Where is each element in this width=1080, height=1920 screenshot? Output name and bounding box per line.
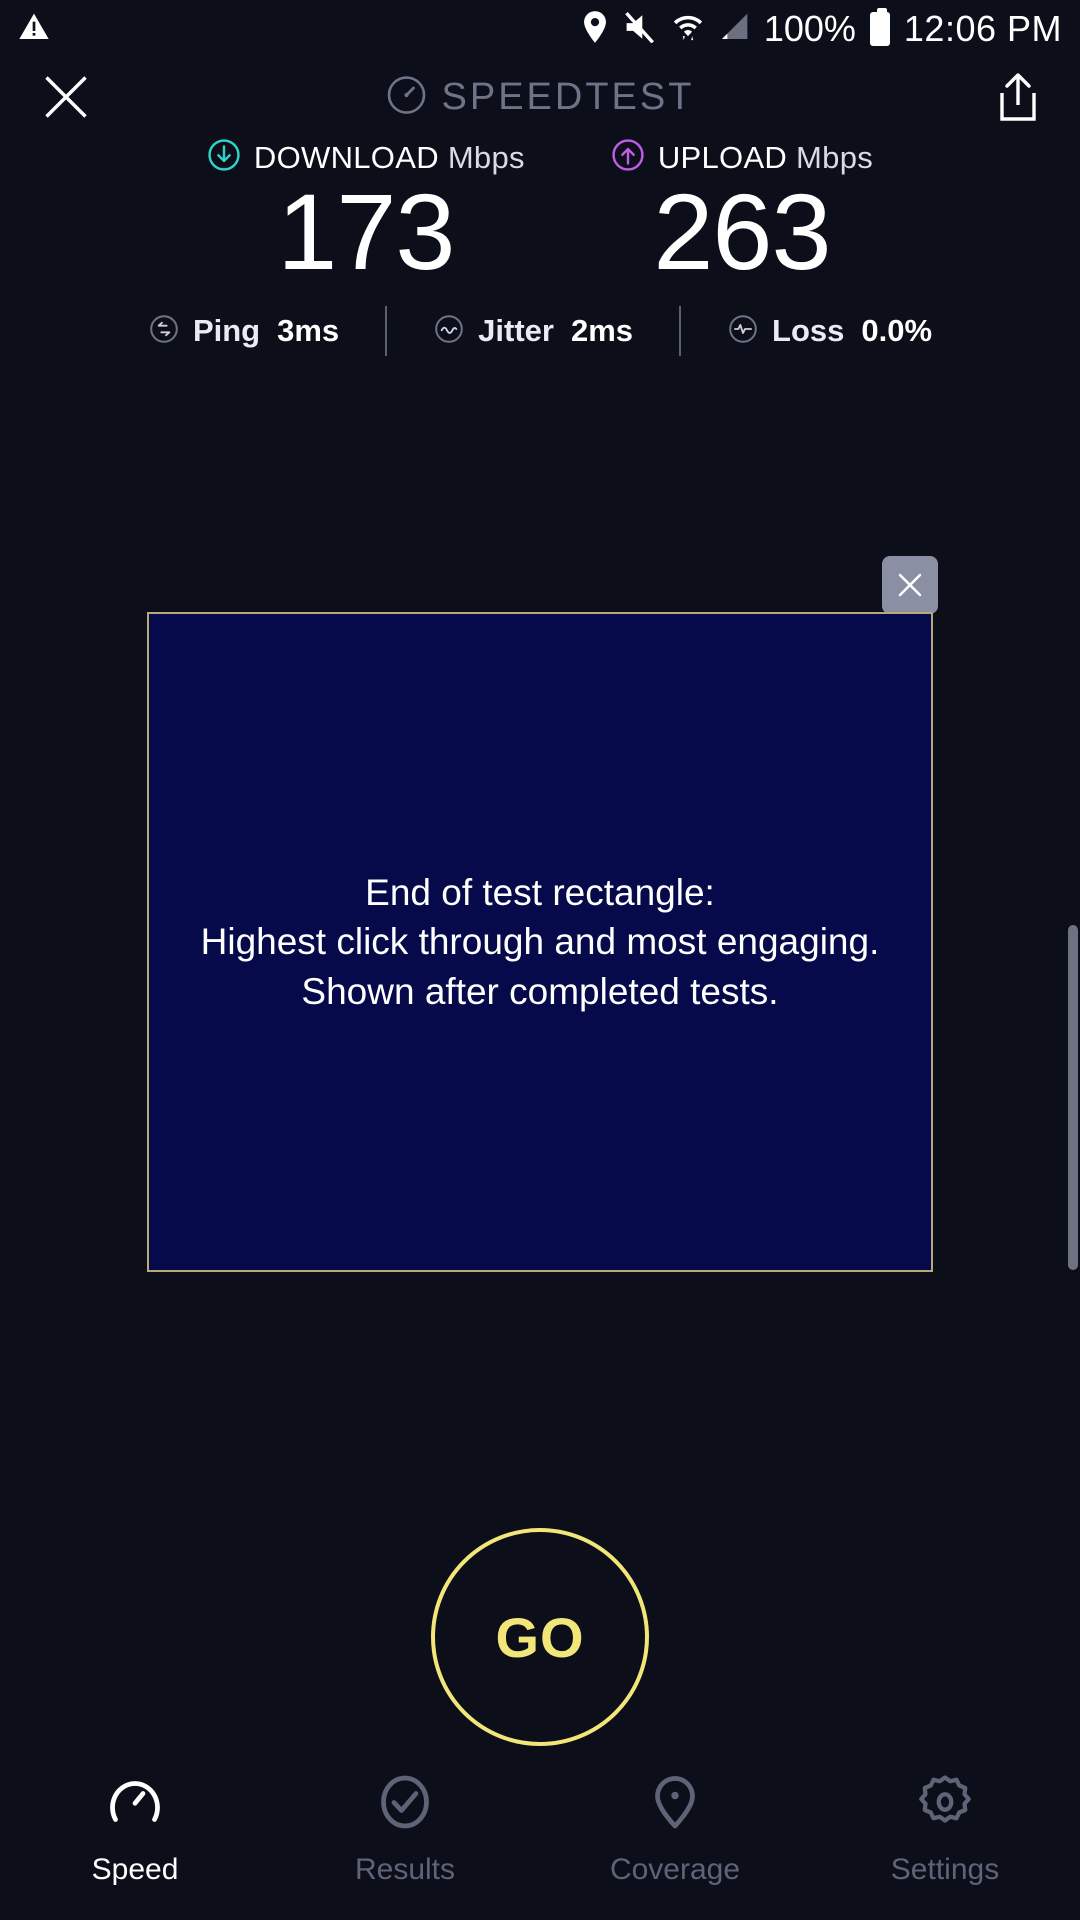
ad-close-icon[interactable] <box>882 556 938 614</box>
bottom-navigation-bar: Speed Results Coverage <box>0 1750 1080 1920</box>
brand-logo: SPEEDTEST <box>386 74 695 121</box>
download-unit: Mbps <box>448 140 525 175</box>
status-bar-right-icons: 100% 12:06 PM <box>580 10 1062 49</box>
upload-metric: UPLOAD Mbps 263 <box>611 138 873 288</box>
jitter-icon <box>433 313 465 350</box>
speedometer-icon <box>386 74 428 121</box>
nav-label-results: Results <box>355 1853 455 1887</box>
warning-triangle-icon <box>18 11 50 48</box>
ping-icon <box>148 313 180 350</box>
nav-label-coverage: Coverage <box>610 1853 740 1887</box>
upload-unit: Mbps <box>796 140 873 175</box>
download-metric: DOWNLOAD Mbps 173 <box>207 138 525 288</box>
download-arrow-icon <box>207 138 241 177</box>
upload-arrow-icon <box>611 138 645 177</box>
loss-label: Loss <box>772 313 844 349</box>
system-status-bar: 100% 12:06 PM <box>0 0 1080 58</box>
connection-stats-row: Ping 3ms Jitter 2ms <box>0 306 1080 356</box>
test-results-panel: DOWNLOAD Mbps 173 UPLOAD <box>0 138 1080 356</box>
ad-banner[interactable]: End of test rectangle: Highest click thr… <box>147 612 933 1272</box>
nav-item-coverage[interactable]: Coverage <box>540 1772 810 1887</box>
volume-mute-icon <box>624 11 658 48</box>
jitter-label: Jitter <box>478 313 554 349</box>
vertical-scrollbar-thumb[interactable] <box>1068 925 1078 1270</box>
check-circle-icon <box>375 1772 435 1837</box>
nav-item-results[interactable]: Results <box>270 1772 540 1887</box>
loss-value: 0.0% <box>861 313 932 349</box>
ping-stat: Ping 3ms <box>102 313 385 350</box>
speed-metrics-row: DOWNLOAD Mbps 173 UPLOAD <box>0 138 1080 288</box>
speedometer-icon <box>105 1772 165 1837</box>
nav-item-settings[interactable]: Settings <box>810 1772 1080 1887</box>
jitter-value: 2ms <box>571 313 633 349</box>
wifi-icon <box>672 10 704 49</box>
share-icon[interactable] <box>996 71 1040 123</box>
map-pin-icon <box>645 1772 705 1837</box>
go-button[interactable]: GO <box>431 1528 649 1746</box>
nav-label-settings: Settings <box>891 1853 999 1887</box>
upload-label-text: UPLOAD <box>658 140 787 175</box>
ping-label: Ping <box>193 313 260 349</box>
battery-percent-label: 100% <box>764 11 856 47</box>
nav-label-speed: Speed <box>92 1853 179 1887</box>
brand-title: SPEEDTEST <box>442 76 695 119</box>
loss-icon <box>727 313 759 350</box>
jitter-stat: Jitter 2ms <box>387 313 679 350</box>
app-header: SPEEDTEST <box>0 58 1080 136</box>
status-bar-left-icons <box>18 11 50 48</box>
gear-icon <box>915 1772 975 1837</box>
download-value: 173 <box>277 175 454 288</box>
ad-text-line-3: Shown after completed tests. <box>201 967 880 1016</box>
download-label-text: DOWNLOAD <box>254 140 439 175</box>
ad-text-line-2: Highest click through and most engaging. <box>201 917 880 966</box>
loss-stat: Loss 0.0% <box>681 313 978 350</box>
go-button-label: GO <box>495 1605 584 1670</box>
ad-text-line-1: End of test rectangle: <box>201 868 880 917</box>
speedtest-app-screen: 100% 12:06 PM SPEEDTEST <box>0 0 1080 1920</box>
ad-text: End of test rectangle: Highest click thr… <box>201 868 880 1016</box>
battery-full-icon <box>870 12 890 46</box>
ping-value: 3ms <box>277 313 339 349</box>
cell-signal-icon <box>718 11 750 48</box>
nav-item-speed[interactable]: Speed <box>0 1772 270 1887</box>
status-bar-clock: 12:06 PM <box>904 11 1062 47</box>
close-icon[interactable] <box>40 71 92 123</box>
upload-value: 263 <box>653 175 830 288</box>
location-pin-icon <box>580 10 610 49</box>
